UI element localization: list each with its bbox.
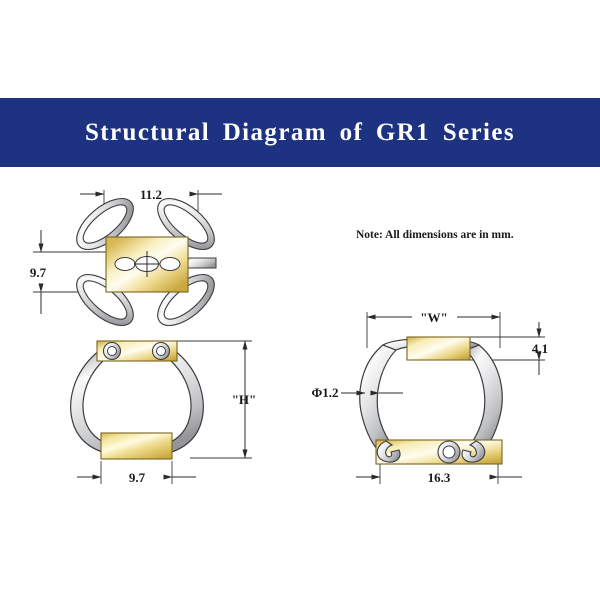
front-view-group: "H" 9.7 <box>71 341 257 485</box>
dimension-side-view-bar-height: 4.1 <box>532 322 548 375</box>
dimension-label-4-1: 4.1 <box>532 341 548 356</box>
dimension-front-view-base-width: 9.7 <box>77 470 196 485</box>
dimension-label-9-7-front: 9.7 <box>129 470 146 485</box>
dimension-side-view-width: "W" <box>367 310 500 325</box>
top-view-side-tab <box>186 258 216 268</box>
diagram-page: Structural Diagram of GR1 Series Note: A… <box>0 0 600 600</box>
dimension-side-view-wire-diameter: Φ1.2 <box>311 385 403 400</box>
side-view-top-bar <box>407 337 470 360</box>
dimension-side-view-base-width: 16.3 <box>356 470 522 485</box>
dimension-label-H: "H" <box>232 392 257 407</box>
dimension-label-phi-1-2: Φ1.2 <box>311 385 338 400</box>
side-view-base-bar <box>376 440 502 464</box>
top-view-group: 11.2 9.7 <box>30 187 223 335</box>
dimension-top-view-height: 9.7 <box>30 230 47 314</box>
dimension-top-view-width: 11.2 <box>80 187 222 202</box>
technical-drawing: 11.2 9.7 <box>0 0 600 600</box>
dimension-label-16-3: 16.3 <box>428 470 451 485</box>
dimension-front-view-height: "H" <box>232 341 257 458</box>
dimension-label-9-7-top: 9.7 <box>30 265 47 280</box>
front-view-top-bar <box>97 341 177 361</box>
side-view-group: "W" 4.1 Φ1.2 16.3 <box>311 310 548 485</box>
dimension-label-11-2: 11.2 <box>140 187 162 202</box>
dimension-label-W: "W" <box>420 310 447 325</box>
front-view-bottom-block <box>101 433 172 459</box>
top-view-center-block <box>106 237 188 292</box>
